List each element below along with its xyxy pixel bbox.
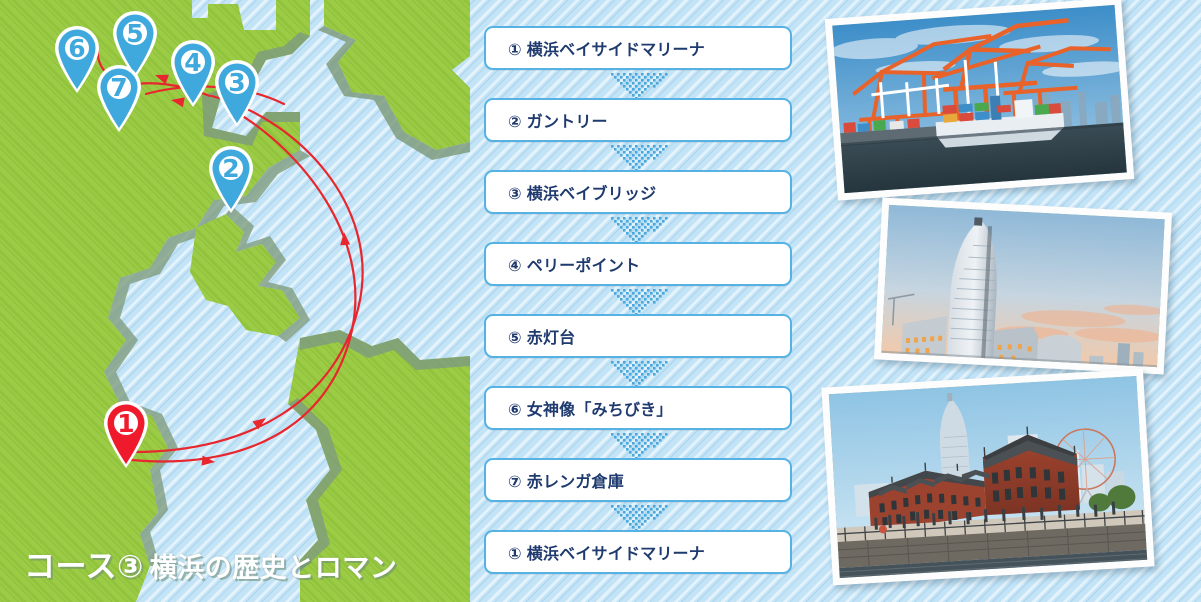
photo-red-brick-warehouse-image — [829, 376, 1147, 578]
photo-gantry-cranes[interactable] — [825, 0, 1135, 201]
course-step-list[interactable]: ①横浜ベイサイドマリーナ②ガントリー③横浜ベイブリッジ④ペリーポイント⑤赤灯台⑥… — [484, 0, 794, 602]
svg-text:5: 5 — [126, 19, 143, 48]
step-number: ① — [508, 544, 522, 563]
step-number: ⑦ — [508, 472, 522, 491]
page-title: コース③横浜の歴史とロマン — [24, 541, 397, 586]
step-item-label: ③横浜ベイブリッジ — [486, 180, 656, 204]
photo-landmark-tower[interactable] — [874, 198, 1172, 375]
photo-landmark-tower-image — [881, 205, 1164, 367]
svg-text:2: 2 — [222, 154, 239, 183]
step-item-6[interactable]: ⑥女神像「みちびき」 — [484, 386, 792, 430]
photo-red-brick-warehouse[interactable] — [821, 369, 1154, 586]
step-number: ③ — [508, 184, 522, 203]
photo-gantry-cranes-image — [832, 5, 1127, 193]
step-number: ⑥ — [508, 400, 522, 419]
svg-text:1: 1 — [117, 409, 134, 438]
step-item-label: ⑦赤レンガ倉庫 — [486, 468, 624, 492]
course-map[interactable]: 1234567 コース③横浜の歴史とロマン — [0, 0, 470, 602]
page-canvas: 1234567 コース③横浜の歴史とロマン ①横浜ベイサイドマリーナ②ガントリー… — [0, 0, 1201, 602]
step-item-label: ①横浜ベイサイドマリーナ — [486, 36, 705, 60]
step-item-label: ②ガントリー — [486, 108, 608, 132]
map-pin-1[interactable]: 1 — [98, 398, 154, 470]
step-item-3[interactable]: ③横浜ベイブリッジ — [484, 170, 792, 214]
step-item-8[interactable]: ①横浜ベイサイドマリーナ — [484, 530, 792, 574]
step-item-7[interactable]: ⑦赤レンガ倉庫 — [484, 458, 792, 502]
step-item-4[interactable]: ④ペリーポイント — [484, 242, 792, 286]
course-label: コース③ — [24, 549, 144, 585]
step-number: ④ — [508, 256, 522, 275]
step-item-2[interactable]: ②ガントリー — [484, 98, 792, 142]
step-item-1[interactable]: ①横浜ベイサイドマリーナ — [484, 26, 792, 70]
step-item-label: ⑤赤灯台 — [486, 324, 575, 348]
step-item-label: ①横浜ベイサイドマリーナ — [486, 540, 705, 564]
map-pin-4[interactable]: 4 — [165, 37, 221, 109]
svg-text:6: 6 — [68, 34, 85, 63]
svg-text:7: 7 — [110, 73, 127, 102]
svg-text:4: 4 — [184, 48, 201, 77]
map-pin-2[interactable]: 2 — [203, 143, 259, 215]
map-pin-7[interactable]: 7 — [91, 62, 147, 134]
step-number: ② — [508, 112, 522, 131]
step-item-label: ④ペリーポイント — [486, 252, 640, 276]
step-item-5[interactable]: ⑤赤灯台 — [484, 314, 792, 358]
step-number: ⑤ — [508, 328, 522, 347]
svg-text:3: 3 — [228, 68, 245, 97]
course-subtitle: 横浜の歴史とロマン — [150, 553, 398, 584]
step-number: ① — [508, 40, 522, 59]
step-item-label: ⑥女神像「みちびき」 — [486, 396, 673, 420]
